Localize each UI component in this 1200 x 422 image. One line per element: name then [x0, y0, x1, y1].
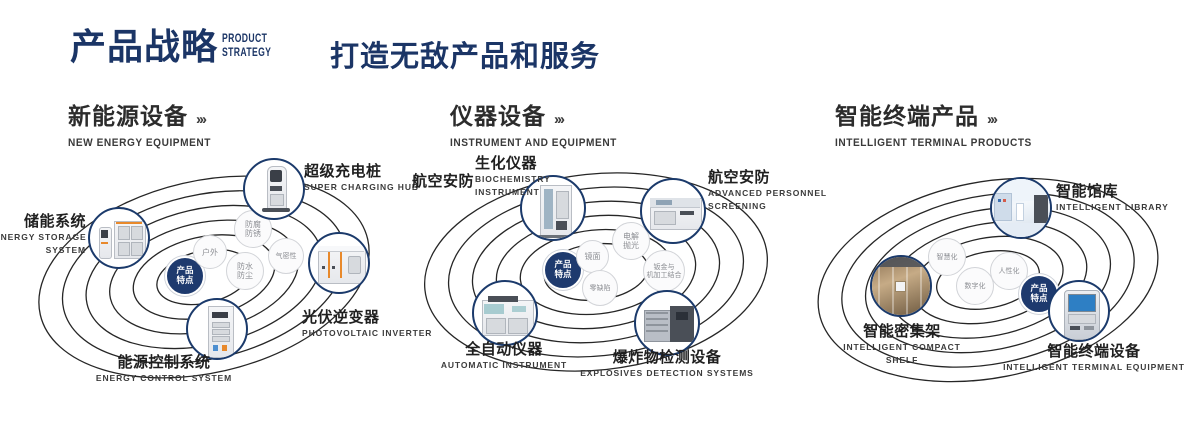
section-title-cn: 仪器设备: [450, 97, 546, 131]
node-label-cn: 生化仪器: [475, 154, 551, 172]
label-energy-control-system: 能源控制系统 ENERGY CONTROL SYSTEM: [74, 353, 254, 384]
feature-label-line1: 防腐: [245, 220, 261, 229]
page-subtitle: 打造无敌产品和服务: [330, 33, 600, 75]
section-title-en: NEW ENERGY EQUIPMENT: [68, 137, 211, 149]
node-label-cn: 智能终端设备: [989, 342, 1199, 360]
page-title: 产品战略: [70, 28, 218, 68]
feature-bubble-sheet-metal-machining: 钣金与 机加工结合: [643, 250, 685, 292]
diagram-intelligent-terminal: 智慧化 数字化 人性化 产品 特点 智能馆库 INTELLIG: [800, 150, 1200, 422]
node-explosives-detection-systems[interactable]: [634, 290, 700, 356]
label-intelligent-terminal-equipment: 智能终端设备 INTELLIGENT TERMINAL EQUIPMENT: [989, 342, 1199, 373]
node-label-cn: 航空安防: [392, 172, 474, 190]
feature-label: 气密性: [276, 252, 297, 260]
chevron-right-icon: ›››: [987, 111, 996, 128]
node-label-en-line1: INTELLIGENT LIBRARY: [1056, 202, 1169, 213]
node-label-en-line1: ENERGY CONTROL SYSTEM: [74, 373, 254, 384]
core-line1: 产品: [176, 266, 193, 276]
node-intelligent-compact-shelf[interactable]: [870, 255, 932, 317]
node-label-en-line2: SYSTEM: [0, 245, 86, 256]
node-label-cn: 储能系统: [0, 212, 86, 230]
node-advanced-personnel-screening[interactable]: [640, 178, 706, 244]
page-header: 产品战略 PRODUCT STRATEGY 打造无敌产品和服务: [0, 0, 1200, 86]
core-line2: 特点: [1030, 294, 1047, 304]
feature-bubble-mirror: 镜面: [576, 240, 609, 273]
feature-bubble-outdoor: 户外: [193, 235, 227, 269]
core-line2: 特点: [176, 276, 193, 286]
node-super-charging-hub[interactable]: [243, 158, 305, 220]
page-title-en-line2: STRATEGY: [222, 45, 271, 59]
node-label-cn: 全自动仪器: [414, 340, 594, 358]
node-label-cn: 智能馆库: [1056, 182, 1169, 200]
inverter-cabinet-icon: [310, 234, 368, 292]
diagram-new-energy: 产品 特点 户外 防腐 防锈 防水 防尘 气密性: [8, 150, 408, 422]
label-automatic-instrument: 全自动仪器 AUTOMATIC INSTRUMENT: [414, 340, 594, 371]
page-title-english: PRODUCT STRATEGY: [222, 31, 271, 59]
feature-label-line2: 抛光: [623, 241, 639, 250]
chevron-right-icon: ›››: [196, 111, 205, 128]
node-label-en-line1: INTELLIGENT TERMINAL EQUIPMENT: [989, 362, 1199, 373]
feature-label-line1: 防水: [237, 262, 253, 271]
automatic-instrument-icon: [474, 282, 536, 344]
node-energy-control-system[interactable]: [186, 298, 248, 360]
label-intelligent-library: 智能馆库 INTELLIGENT LIBRARY: [1056, 182, 1169, 213]
node-label-en-line2: SHELF: [812, 355, 992, 366]
feature-label: 数字化: [965, 282, 986, 290]
node-intelligent-terminal-equipment[interactable]: [1048, 280, 1110, 342]
feature-label-line2: 防锈: [245, 229, 261, 238]
feature-label: 镜面: [585, 252, 601, 261]
charging-pile-icon: [245, 160, 303, 218]
diagram-instrument: 产品 特点 镜面 电解 抛光 零缺陷 钣金与 机加工结合 航空安防: [400, 150, 800, 422]
label-biochemistry-instrument: 生化仪器 BIOCHEMISTRY INSTRUMENT: [475, 154, 551, 198]
node-energy-storage-system[interactable]: [88, 207, 150, 269]
control-cabinet-icon: [188, 300, 246, 358]
feature-label: 人性化: [999, 267, 1020, 275]
label-energy-storage-system: 储能系统 ENERGY STORAGE SYSTEM: [0, 212, 86, 256]
terminal-kiosk-icon: [1050, 282, 1108, 340]
section-title-instrument: 仪器设备 ››› INSTRUMENT AND EQUIPMENT: [450, 97, 631, 149]
battery-cabinet-icon: [90, 209, 148, 267]
feature-label-line1: 电解: [623, 232, 639, 241]
node-label-en-line1: AUTOMATIC INSTRUMENT: [414, 360, 594, 371]
label-aviation-security-left: 航空安防: [392, 172, 474, 190]
node-label-cn: 爆炸物检测设备: [577, 348, 757, 366]
node-intelligent-library[interactable]: [990, 177, 1052, 239]
feature-label-line1: 钣金与: [654, 263, 675, 271]
feature-bubble-airtightness: 气密性: [268, 238, 304, 274]
feature-label: 智慧化: [937, 253, 958, 261]
node-label-en-line1: EXPLOSIVES DETECTION SYSTEMS: [577, 368, 757, 379]
feature-label: 零缺陷: [590, 284, 611, 292]
node-photovoltaic-inverter[interactable]: [308, 232, 370, 294]
label-intelligent-compact-shelf: 智能密集架 INTELLIGENT COMPACT SHELF: [812, 322, 992, 366]
node-label-cn: 能源控制系统: [74, 353, 254, 371]
node-label-cn: 智能密集架: [812, 322, 992, 340]
core-line1: 产品: [1030, 284, 1047, 294]
explosives-detector-icon: [636, 292, 698, 354]
section-title-cn: 智能终端产品: [835, 97, 979, 131]
chevron-right-icon: ›››: [554, 111, 563, 128]
feature-bubble-intelligent: 智慧化: [928, 238, 966, 276]
page-title-en-line1: PRODUCT: [222, 31, 271, 45]
compact-shelf-icon: [872, 257, 930, 315]
section-title-en: INTELLIGENT TERMINAL PRODUCTS: [835, 137, 1032, 149]
feature-bubble-digital: 数字化: [956, 267, 994, 305]
library-room-icon: [992, 179, 1050, 237]
feature-label-line2: 防尘: [237, 271, 253, 280]
feature-label-line2: 机加工结合: [647, 271, 682, 279]
section-title-new-energy: 新能源设备 ››› NEW ENERGY EQUIPMENT: [68, 97, 223, 149]
feature-label: 户外: [202, 248, 218, 257]
section-title-en: INSTRUMENT AND EQUIPMENT: [450, 137, 617, 149]
feature-bubble-waterproof: 防水 防尘: [226, 252, 264, 290]
node-automatic-instrument[interactable]: [472, 280, 538, 346]
node-label-en-line2: INSTRUMENT: [475, 187, 551, 198]
core-line2: 特点: [554, 270, 571, 280]
core-line1: 产品: [554, 260, 571, 270]
node-label-en-line1: ENERGY STORAGE: [0, 232, 86, 243]
section-title-intelligent-terminal: 智能终端产品 ››› INTELLIGENT TERMINAL PRODUCTS: [835, 97, 1049, 149]
feature-bubble-zero-defect: 零缺陷: [582, 270, 618, 306]
product-strategy-infographic: 产品战略 PRODUCT STRATEGY 打造无敌产品和服务 新能源设备 ››…: [0, 0, 1200, 422]
label-explosives-detection-systems: 爆炸物检测设备 EXPLOSIVES DETECTION SYSTEMS: [577, 348, 757, 379]
node-label-en-line1: BIOCHEMISTRY: [475, 174, 551, 185]
node-label-en-line1: INTELLIGENT COMPACT: [812, 342, 992, 353]
screening-machine-icon: [642, 180, 704, 242]
section-title-cn: 新能源设备: [68, 97, 188, 131]
